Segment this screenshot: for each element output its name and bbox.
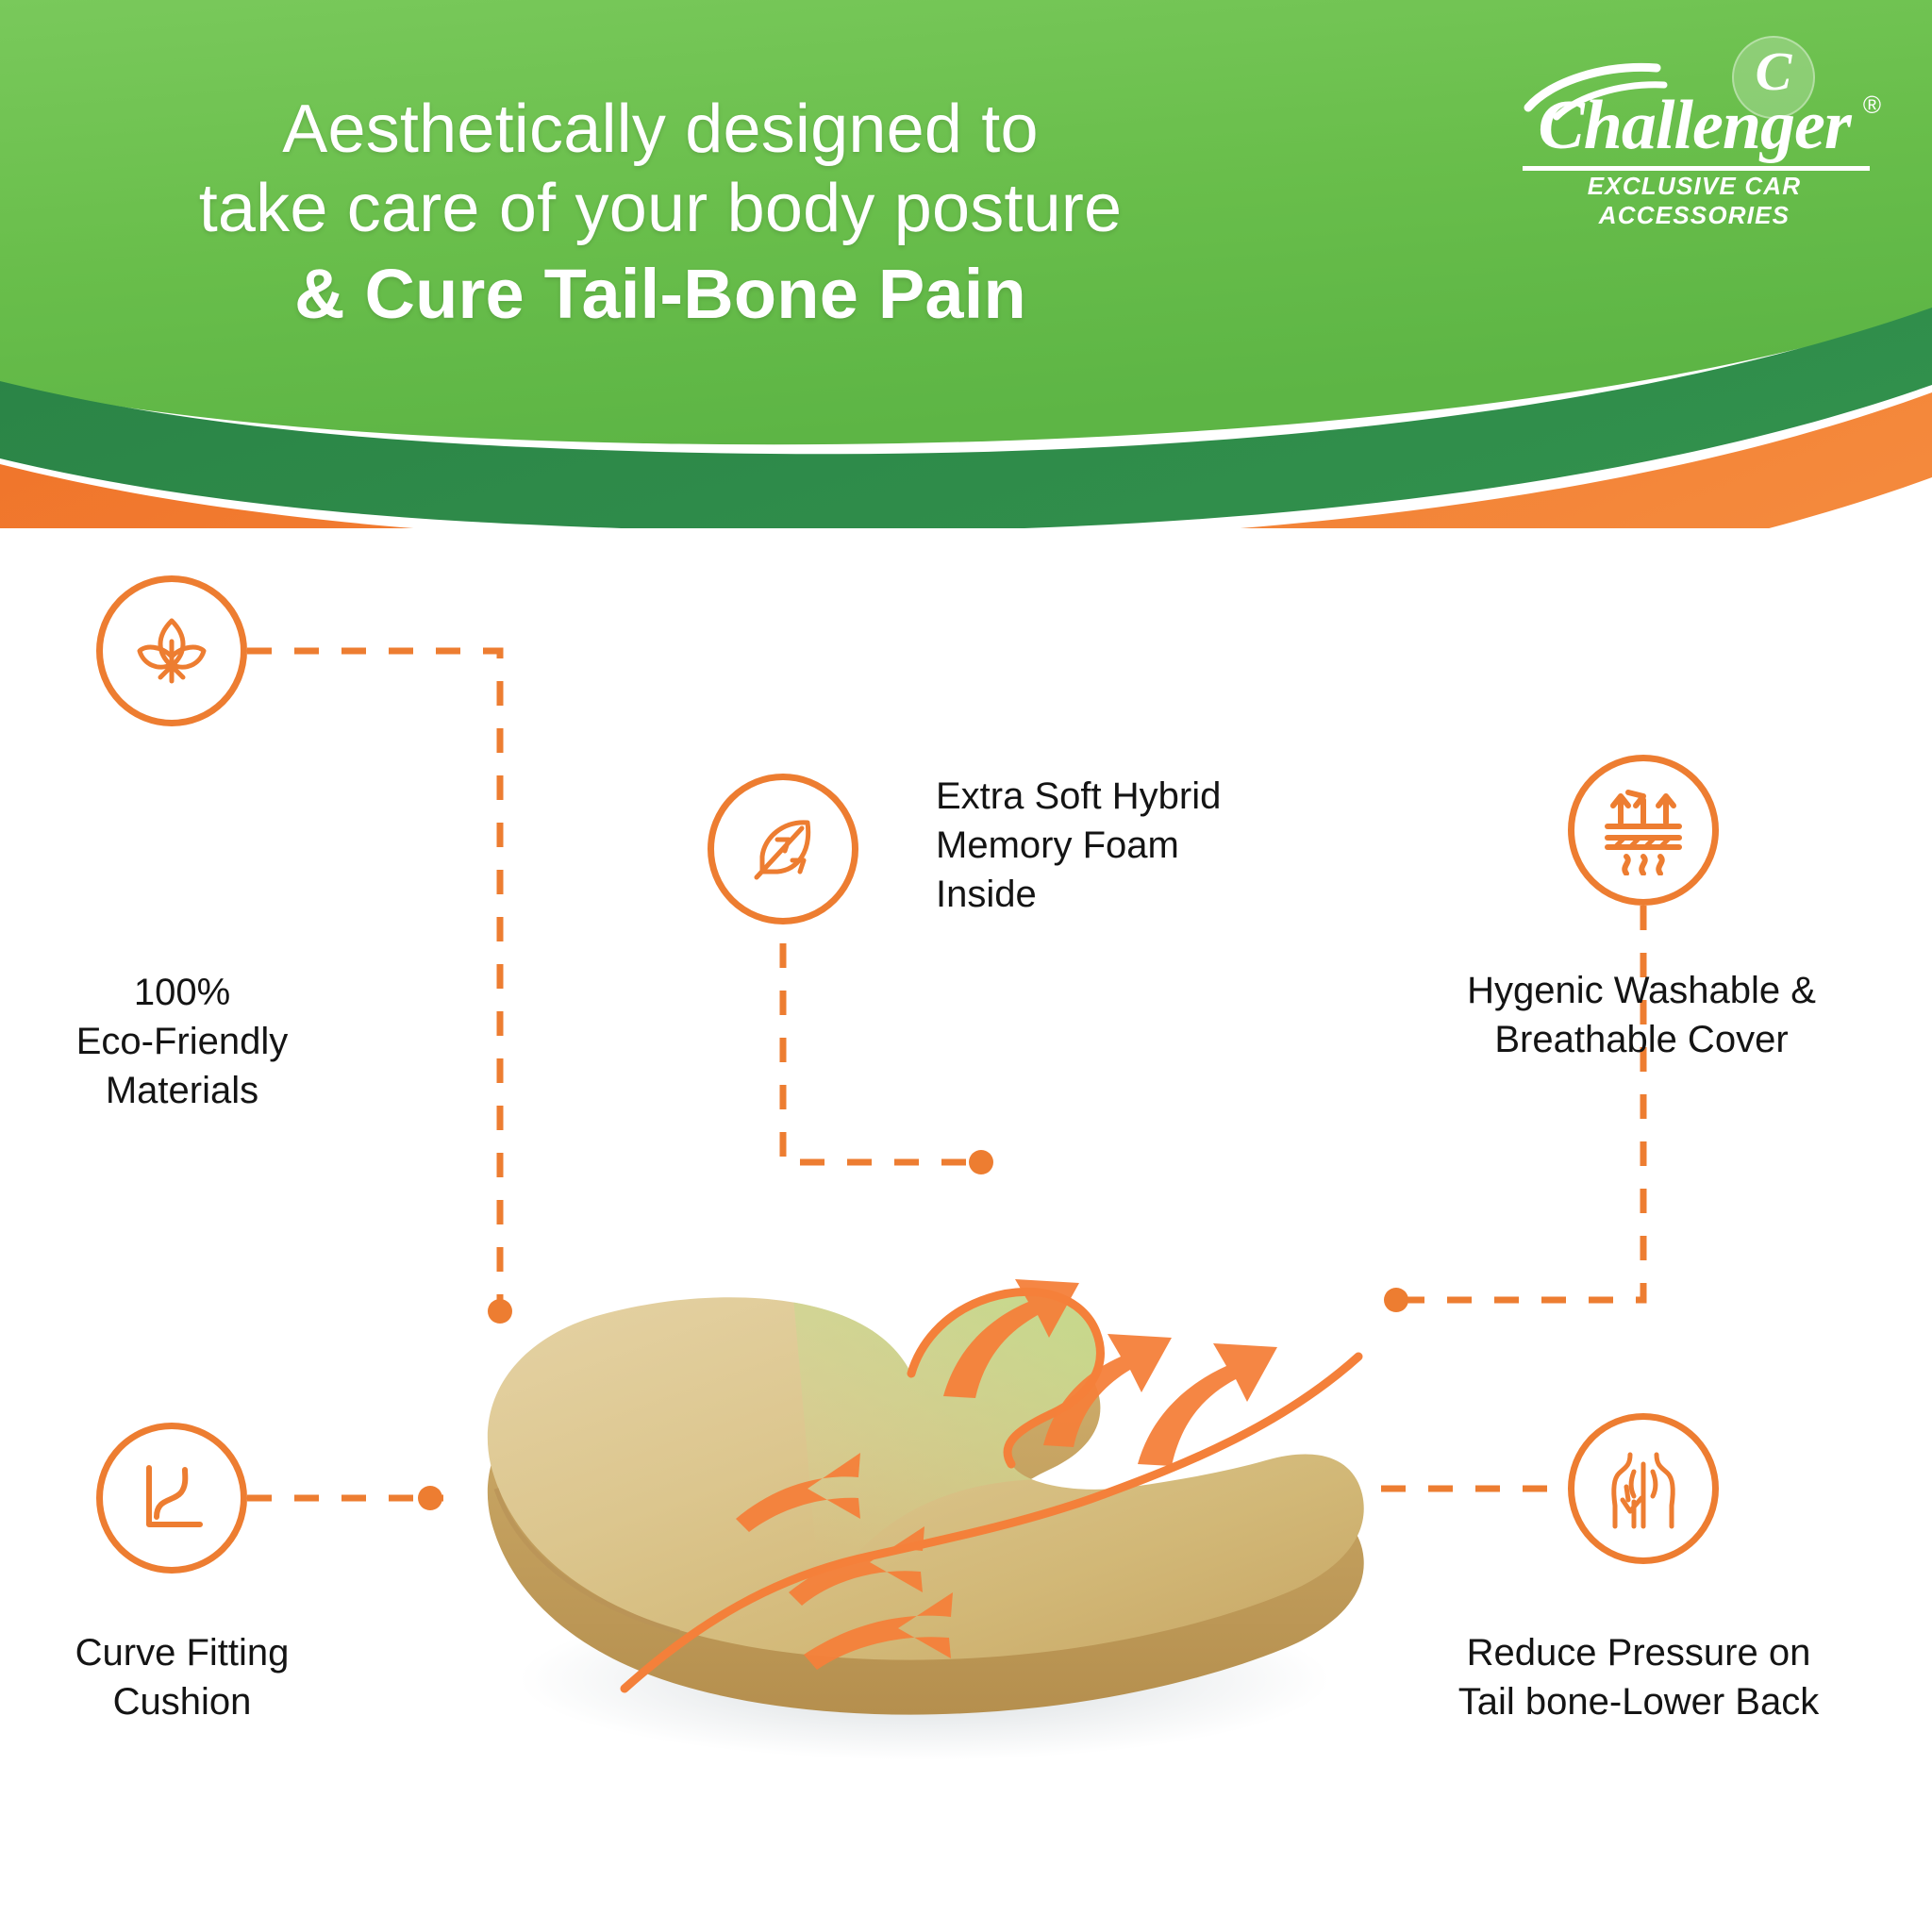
breathable-label-line-1: Hygenic Washable & [1379, 966, 1904, 1015]
feature-label-memory-foam: Extra Soft Hybrid Memory Foam Inside [936, 772, 1389, 919]
feather-icon [740, 806, 826, 892]
feature-icon-breathable-cover[interactable] [1568, 755, 1719, 906]
foam-label-line-2: Memory Foam [936, 821, 1389, 870]
curve-seat-icon [128, 1455, 215, 1541]
headline-line-2: take care of your body posture [0, 170, 1321, 249]
feature-icon-memory-foam[interactable] [708, 774, 858, 924]
infographic-canvas: Aesthetically designed to take care of y… [0, 0, 1932, 1932]
brand-logo: C Challenger ® EXCLUSIVE CAR ACCESSORIES [1506, 38, 1883, 170]
registered-trademark-icon: ® [1863, 91, 1881, 120]
logo-divider [1523, 166, 1870, 171]
eco-label-line-1: 100% [0, 968, 364, 1017]
breathable-icon [1598, 785, 1689, 875]
logo-tagline: EXCLUSIVE CAR ACCESSORIES [1506, 172, 1883, 230]
headline-line-1: Aesthetically designed to [0, 91, 1321, 170]
leaf-icon [128, 608, 215, 694]
logo-wordmark: Challenger [1506, 91, 1883, 160]
foam-label-line-3: Inside [936, 870, 1389, 919]
feature-label-eco-friendly: 100% Eco-Friendly Materials [0, 968, 364, 1115]
feature-label-reduce-pressure: Reduce Pressure on Tail bone-Lower Back [1360, 1628, 1917, 1726]
eco-label-line-3: Materials [0, 1066, 364, 1115]
header-banner: Aesthetically designed to take care of y… [0, 0, 1932, 509]
eco-label-line-2: Eco-Friendly [0, 1017, 364, 1066]
pressure-label-line-1: Reduce Pressure on [1360, 1628, 1917, 1677]
pressure-label-line-2: Tail bone-Lower Back [1360, 1677, 1917, 1726]
feature-icon-curve-fitting[interactable] [96, 1423, 247, 1574]
foam-label-line-1: Extra Soft Hybrid [936, 772, 1389, 821]
headline-line-3: & Cure Tail-Bone Pain [0, 254, 1321, 335]
feature-icon-eco-friendly[interactable] [96, 575, 247, 726]
curve-label-line-2: Cushion [0, 1677, 364, 1726]
feature-label-curve-fitting: Curve Fitting Cushion [0, 1628, 364, 1726]
feature-icon-reduce-pressure[interactable] [1568, 1413, 1719, 1564]
breathable-label-line-2: Breathable Cover [1379, 1015, 1904, 1064]
product-image-seat-cushion [377, 1113, 1434, 1774]
headline: Aesthetically designed to take care of y… [0, 91, 1321, 335]
feature-label-breathable-cover: Hygenic Washable & Breathable Cover [1379, 966, 1904, 1064]
curve-label-line-1: Curve Fitting [0, 1628, 364, 1677]
cushion-illustration [377, 1113, 1434, 1774]
human-back-icon [1598, 1443, 1689, 1534]
